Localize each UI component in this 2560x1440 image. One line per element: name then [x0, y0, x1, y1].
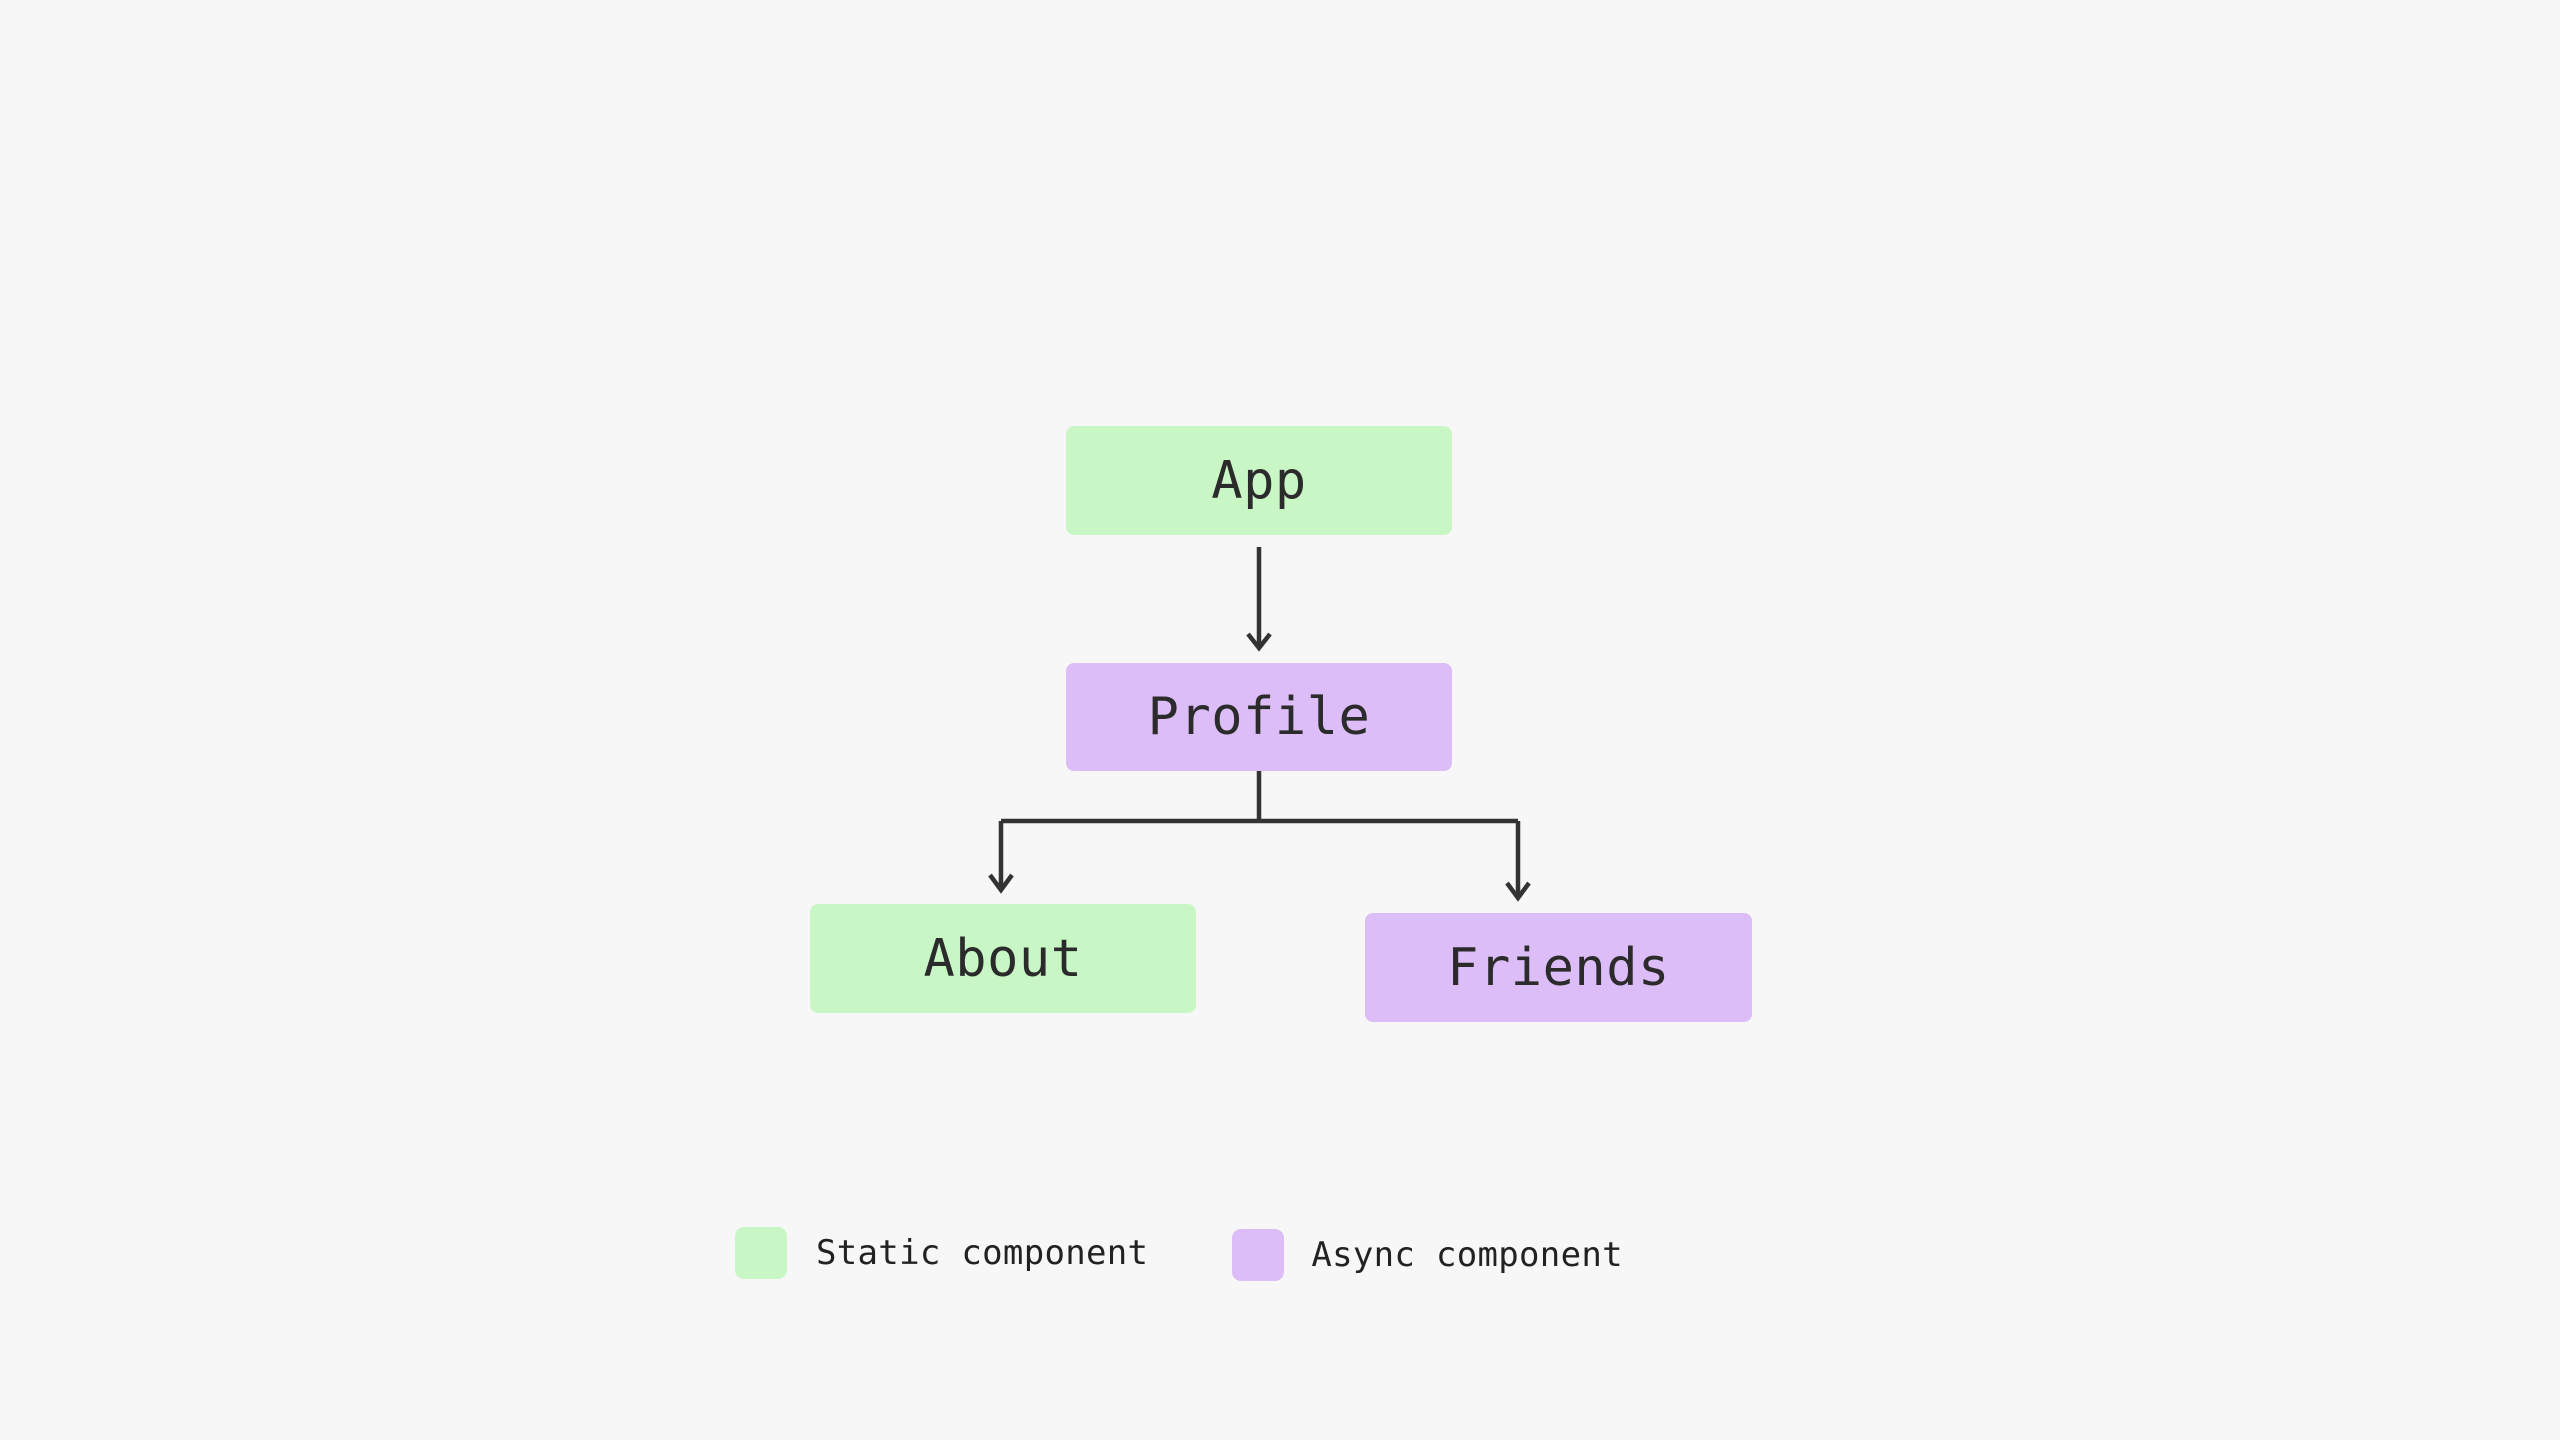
legend-swatch-async-icon [1232, 1229, 1284, 1281]
diagram-node-app[interactable]: App [1066, 426, 1452, 535]
diagram-canvas: App Profile About Friends Static compone… [0, 0, 2560, 1440]
diagram-node-profile[interactable]: Profile [1066, 663, 1452, 771]
legend: Static component Async component [735, 1218, 1623, 1288]
diagram-node-app-label: App [1211, 455, 1306, 507]
legend-item-async: Async component [1232, 1225, 1623, 1281]
diagram-node-friends-label: Friends [1447, 942, 1670, 994]
diagram-node-about-label: About [923, 933, 1082, 985]
legend-item-static: Static component [735, 1227, 1148, 1279]
diagram-node-friends[interactable]: Friends [1365, 913, 1752, 1022]
legend-label-static: Static component [816, 1236, 1148, 1270]
legend-label-async: Async component [1311, 1238, 1623, 1272]
diagram-node-about[interactable]: About [810, 904, 1196, 1013]
legend-swatch-static-icon [735, 1227, 787, 1279]
diagram-node-profile-label: Profile [1148, 691, 1371, 743]
